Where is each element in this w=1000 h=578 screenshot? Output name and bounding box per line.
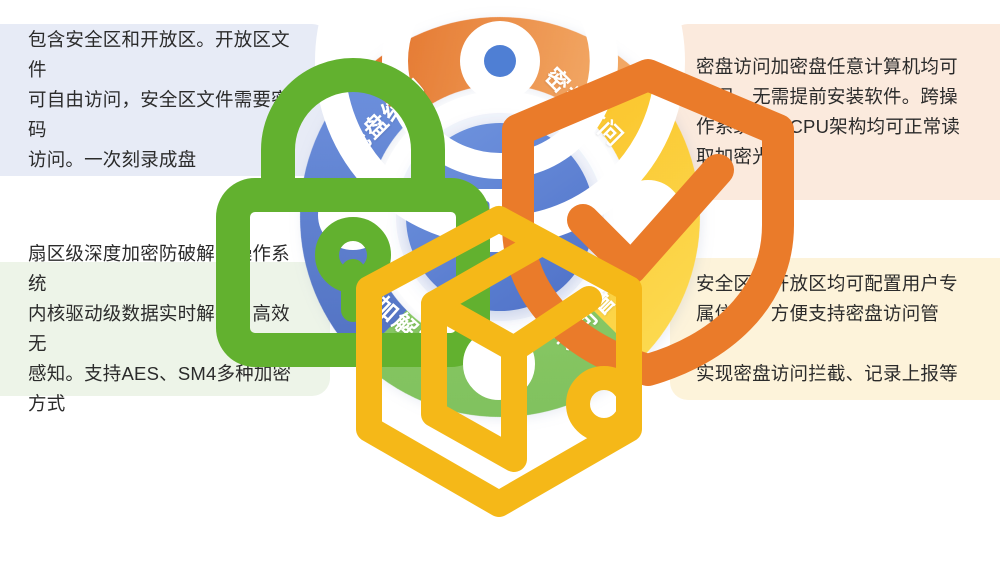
infographic-canvas: 包含安全区和开放区。开放区文件 可自由访问，安全区文件需要密码 访问。一次刻录成… [0, 0, 1000, 434]
donut-wheel: 光盘结构 密盘访问 深度加解密 访问管控 [300, 3, 700, 431]
cube-node-icon [299, 150, 699, 578]
badge-access-control [463, 328, 535, 400]
